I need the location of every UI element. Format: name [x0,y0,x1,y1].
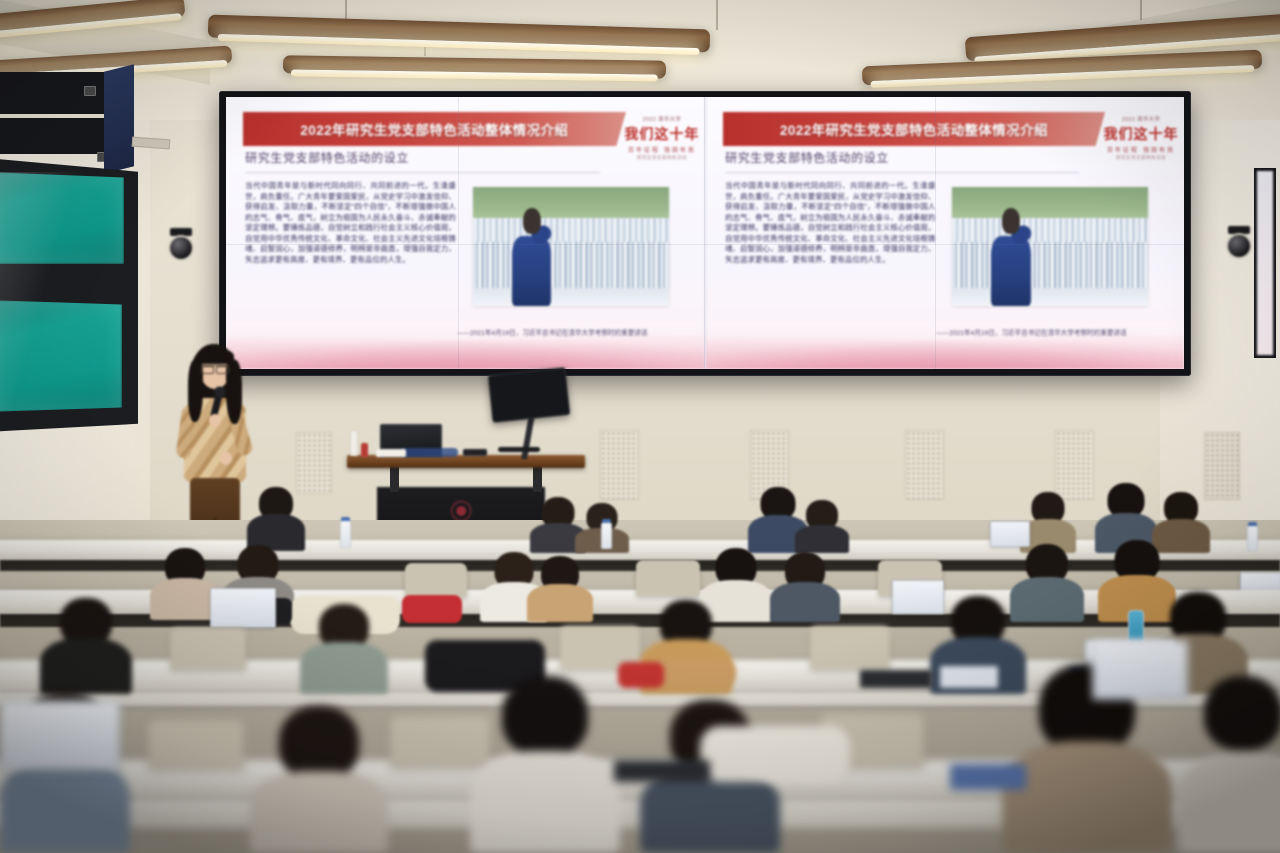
audience-d2 [470,676,620,853]
audience-b4 [527,556,593,622]
video-wall-seam-3 [935,97,936,369]
projector-screen-housing [104,64,134,173]
red-jacket-on-chair [402,595,462,623]
chair-c3 [810,626,890,670]
water-bottle-a2 [601,522,612,549]
slide-campaign-logo: 2022 清华大学 我们这十年 百年征程 强国有我 研究生党支部特色活动 [626,105,698,170]
light-rod-2 [716,0,718,30]
audience-body [527,584,593,622]
audience-body [470,751,620,853]
slide-title-text: 2022年研究生党支部特色活动整体情况介绍 [300,119,568,139]
audience-body [250,771,388,853]
slide-panel-right: 2022年研究生党支部特色活动整体情况介绍 2022 清华大学 我们这十年 百年… [705,97,1184,369]
desk-leg-right [533,466,542,492]
tablet-screen-d2[interactable] [1092,640,1188,700]
bottle-cap [602,519,611,523]
desk-pointer [498,447,540,452]
audience-b6 [770,552,840,622]
slide-divider-rule [245,172,599,173]
university-seal-icon [451,501,471,521]
presenter-eyeglasses [201,365,229,371]
slide-mountain-graphic-2 [706,325,1184,369]
acoustic-panel-2 [600,430,639,500]
photo-main-figure [512,208,551,306]
chair-d3 [148,720,244,770]
photo-ground [473,288,669,306]
logo-subline: 百年征程 强国有我 [628,145,696,154]
photo-ground-2 [952,288,1148,306]
audience-body [0,757,130,853]
audience-body [40,638,132,694]
slide-photograph [473,187,669,307]
wall-camera-right [1224,226,1256,262]
equipment-housing-lower [0,118,112,154]
presenter-monitor[interactable] [488,367,571,423]
desk-leg-left [390,466,399,492]
bottle-cap [1248,522,1257,526]
audience-body [795,525,849,553]
slide-body-text-2: 当代中国青年是与新时代同向同行、共同前进的一代。生逢盛世，肩负重任。广大青年要爱… [725,181,935,265]
video-wall-seam-1 [458,97,459,369]
photo-figure-body [512,236,551,307]
water-bottle-a3 [1247,525,1258,551]
logo-tagline-2: 研究生党支部特色活动 [1116,155,1166,161]
slide-title-banner: 2022年研究生党支部特色活动整体情况介绍 [243,112,626,146]
audience-body [770,582,840,622]
acoustic-panel-1 [296,432,332,494]
red-marker [361,443,368,457]
audience-body [300,642,388,694]
video-wall-display-area: 2022年研究生党支部特色活动整体情况介绍 2022 清华大学 我们这十年 百年… [226,97,1184,369]
video-wall-seam-2 [704,97,705,369]
desk-cables [400,448,458,457]
side-display-screen [1257,171,1273,355]
photo-figure-body-2 [991,236,1030,307]
camera-dome-left [168,235,194,261]
logo-tagline: 研究生党支部特色活动 [637,155,687,161]
logo-subline-2: 百年征程 强国有我 [1107,145,1175,154]
desk-remote [463,449,487,456]
camera-dome-right [1226,233,1252,259]
chair-b2 [636,560,700,596]
audience-a5 [795,500,849,553]
audience-c1 [40,598,132,694]
slide-body-text: 当代中国青年是与新时代同向同行、共同前进的一代。生逢盛世，肩负重任。广大青年要爱… [245,181,456,265]
audience-body [1178,753,1280,853]
chalkboard-glare [0,172,124,412]
audience-d5 [1178,676,1280,853]
wall-camera-left [166,228,198,264]
tablet-row-d[interactable] [614,760,710,782]
photo-crowd-front-2 [952,242,1148,290]
bottle-cap [341,517,350,521]
photo-figure-head [523,208,541,234]
slide-campaign-logo-2: 2022 清华大学 我们这十年 百年征程 强国有我 研究生党支部特色活动 [1105,105,1177,170]
logo-year-line-2: 2022 清华大学 [1122,115,1160,123]
video-wall-seam-h [226,244,1184,245]
logo-year-line: 2022 清华大学 [643,115,681,123]
desk-paper [376,449,406,457]
logo-headline: 我们这十年 [624,124,699,144]
notebook-row-c [940,666,998,688]
audience-c2 [300,604,388,694]
water-bottle-a1 [340,520,351,548]
slide-panel-left: 2022年研究生党支部特色活动整体情况介绍 2022 清华大学 我们这十年 百年… [226,97,705,369]
housing-badge-upper [84,86,96,96]
photo-figure-head-2 [1002,208,1020,234]
audience-a1 [247,487,305,551]
white-jacket-row-d [700,726,850,782]
chair-c1 [170,628,246,670]
lecture-hall-photo: 2022年研究生党支部特色活动整体情况介绍 2022 清华大学 我们这十年 百年… [0,0,1280,853]
laptop-d1[interactable] [0,700,120,770]
chair-b1 [405,563,467,597]
light-rod-3 [1140,0,1142,20]
slide-subtitle: 研究生党支部特色活动的设立 [245,149,409,166]
logo-headline-2: 我们这十年 [1104,124,1179,144]
equipment-housing-upper [0,72,120,114]
slide-photograph-2 [952,187,1148,307]
hand-sanitizer-bottle [350,430,358,456]
acoustic-panel-5 [1055,430,1094,500]
laptop-b1[interactable] [210,588,276,628]
audience-head [279,706,359,780]
audience-head [502,676,588,756]
audience-body [1002,741,1172,853]
photo-main-figure-2 [991,208,1030,306]
acoustic-panel-6 [1204,432,1240,500]
photo-crowd-front [473,242,669,290]
slide-divider-rule-2 [725,172,1079,173]
slide-title-banner-2: 2022年研究生党支部特色活动整体情况介绍 [723,112,1105,146]
audience-d6 [250,706,388,853]
acoustic-panel-4 [905,430,944,500]
video-wall-screen[interactable]: 2022年研究生党支部特色活动整体情况介绍 2022 清华大学 我们这十年 百年… [219,91,1191,376]
slide-mountain-graphic [226,325,705,369]
magazine-row-d [950,764,1026,790]
slide-subtitle-2: 研究生党支部特色活动的设立 [725,149,889,166]
audience-head [1204,676,1280,750]
presenter-hand-mic [209,414,221,427]
presenter-hand-free [220,452,232,465]
red-item-row-c [618,662,664,688]
slide-title-text-2: 2022年研究生党支部特色活动整体情况介绍 [780,119,1048,139]
side-display-panel[interactable] [1254,168,1276,358]
tablet-row-c[interactable] [860,670,932,688]
